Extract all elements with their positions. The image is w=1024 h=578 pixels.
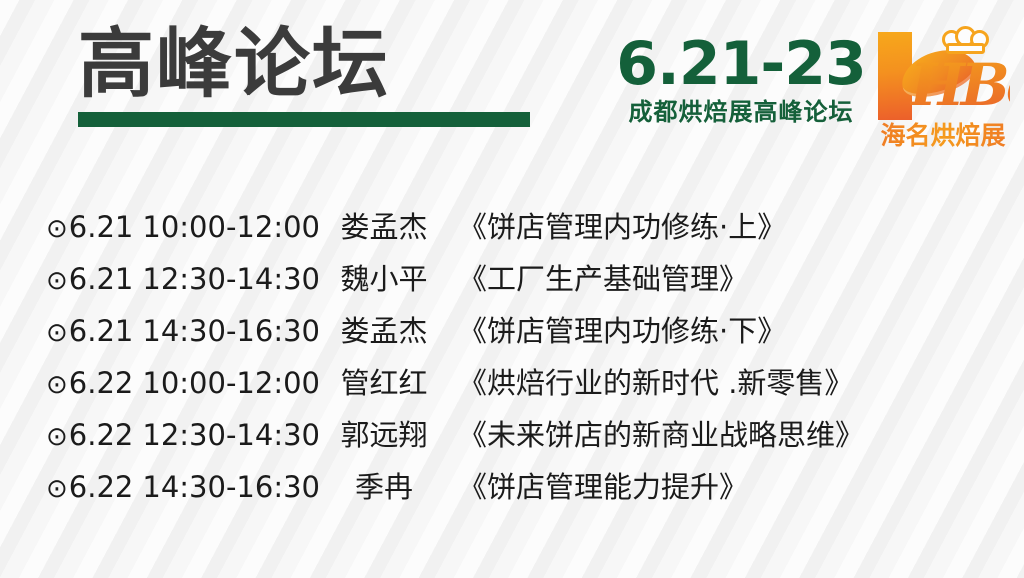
schedule-row: ⊙6.2214:30-16:30季冉《饼店管理能力提升》 — [46, 464, 986, 516]
schedule-time-range: 12:30-14:30 — [142, 262, 320, 296]
schedule-speaker-name: 郭远翔 — [332, 412, 436, 454]
event-date-range: 6.21-23 — [612, 34, 870, 95]
schedule-speaker-name: 魏小平 — [332, 256, 436, 298]
schedule-bullet-icon: ⊙ — [46, 318, 68, 348]
page-title: 高峰论坛 — [78, 26, 548, 102]
schedule-time-range: 10:00-12:00 — [142, 366, 320, 400]
brand-logo: HBe 海名烘焙展 — [876, 26, 1010, 160]
schedule-time-range: 14:30-16:30 — [142, 314, 320, 348]
forum-schedule-poster: 高峰论坛 6.21-23 成都烘焙展高峰论坛 HBe 海名烘焙展 ⊙6.211 — [0, 0, 1024, 578]
schedule-bullet-icon: ⊙ — [46, 474, 68, 504]
schedule-date: 6.21 — [69, 314, 134, 348]
schedule-bullet-icon: ⊙ — [46, 422, 68, 452]
event-subtitle: 成都烘焙展高峰论坛 — [612, 99, 870, 125]
schedule-topic-title: 《饼店管理内功修练·上》 — [458, 204, 786, 246]
schedule-list: ⊙6.2110:00-12:00娄孟杰《饼店管理内功修练·上》⊙6.2112:3… — [46, 204, 986, 516]
schedule-bullet-icon: ⊙ — [46, 214, 68, 244]
schedule-topic-title: 《烘焙行业的新时代 .新零售》 — [458, 360, 853, 402]
schedule-speaker-name: 娄孟杰 — [332, 308, 436, 350]
schedule-date: 6.21 — [69, 262, 134, 296]
schedule-speaker-name: 娄孟杰 — [332, 204, 436, 246]
schedule-speaker-name: 季冉 — [332, 464, 436, 506]
poster-header: 高峰论坛 6.21-23 成都烘焙展高峰论坛 HBe 海名烘焙展 — [0, 0, 1024, 180]
schedule-time-range: 14:30-16:30 — [142, 470, 320, 504]
schedule-date: 6.22 — [69, 470, 134, 504]
schedule-topic-title: 《饼店管理能力提升》 — [458, 464, 748, 506]
schedule-time-range: 10:00-12:00 — [142, 210, 320, 244]
schedule-row: ⊙6.2210:00-12:00管红红《烘焙行业的新时代 .新零售》 — [46, 360, 986, 412]
brand-monogram: HBe — [910, 50, 1010, 120]
schedule-date: 6.22 — [69, 366, 134, 400]
date-block: 6.21-23 成都烘焙展高峰论坛 — [612, 34, 870, 126]
schedule-date: 6.22 — [69, 418, 134, 452]
schedule-row: ⊙6.2114:30-16:30娄孟杰《饼店管理内功修练·下》 — [46, 308, 986, 360]
schedule-topic-title: 《未来饼店的新商业战略思维》 — [458, 412, 864, 454]
schedule-bullet-icon: ⊙ — [46, 370, 68, 400]
schedule-speaker-name: 管红红 — [332, 360, 436, 402]
brand-mark: HBe — [876, 26, 1010, 126]
schedule-row: ⊙6.2212:30-14:30郭远翔《未来饼店的新商业战略思维》 — [46, 412, 986, 464]
schedule-time-range: 12:30-14:30 — [142, 418, 320, 452]
brand-name-label: 海名烘焙展 — [876, 122, 1010, 151]
schedule-topic-title: 《工厂生产基础管理》 — [458, 256, 748, 298]
schedule-row: ⊙6.2112:30-14:30魏小平《工厂生产基础管理》 — [46, 256, 986, 308]
schedule-topic-title: 《饼店管理内功修练·下》 — [458, 308, 786, 350]
schedule-date: 6.21 — [69, 210, 134, 244]
title-block: 高峰论坛 — [78, 26, 548, 127]
title-underline-rule — [78, 112, 530, 127]
schedule-bullet-icon: ⊙ — [46, 266, 68, 296]
schedule-row: ⊙6.2110:00-12:00娄孟杰《饼店管理内功修练·上》 — [46, 204, 986, 256]
